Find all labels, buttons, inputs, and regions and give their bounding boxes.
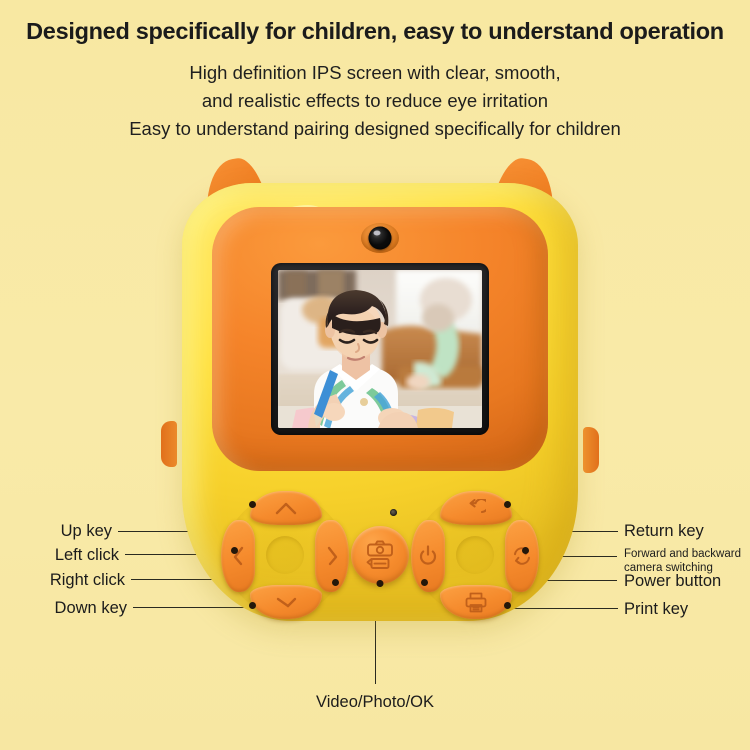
label-right-click: Right click <box>0 571 125 590</box>
indicator-dot-icon <box>390 509 397 516</box>
down-key-button[interactable] <box>250 585 322 619</box>
return-key-button[interactable] <box>440 491 512 525</box>
camera-device <box>168 155 592 625</box>
leader-dot-power <box>421 579 428 586</box>
up-key-button[interactable] <box>250 491 322 525</box>
dpad-right <box>415 495 535 615</box>
product-infographic: Designed specifically for children, easy… <box>0 0 750 750</box>
lens-housing <box>361 223 399 253</box>
leader-dot-left <box>231 547 238 554</box>
label-return-key: Return key <box>624 522 704 541</box>
camera-lens-icon <box>369 227 392 250</box>
print-icon <box>464 592 488 613</box>
subtitle-line-2: and realistic effects to reduce eye irri… <box>0 90 750 112</box>
leader-dot-up <box>249 501 256 508</box>
left-click-button[interactable] <box>221 520 255 592</box>
screen-photo <box>278 270 482 428</box>
leader-dot-ok <box>377 580 384 587</box>
label-video-photo-ok: Video/Photo/OK <box>0 693 750 712</box>
power-icon <box>419 545 437 567</box>
dpad-left <box>225 495 345 615</box>
side-button-right[interactable] <box>583 427 599 473</box>
leader-dot-down <box>249 602 256 609</box>
camera-faceplate <box>212 207 548 471</box>
return-icon <box>466 499 486 517</box>
leader-dot-right <box>332 579 339 586</box>
leader-dot-return <box>504 501 511 508</box>
subtitle-line-3: Easy to understand pairing designed spec… <box>0 118 750 140</box>
video-photo-ok-button[interactable] <box>344 519 416 591</box>
lens-glint <box>374 231 381 236</box>
label-left-click: Left click <box>0 546 119 565</box>
arrow-up-icon <box>275 502 297 515</box>
print-key-button[interactable] <box>440 585 512 619</box>
label-down-key: Down key <box>0 599 127 618</box>
subtitle-line-1: High definition IPS screen with clear, s… <box>0 62 750 84</box>
label-up-key: Up key <box>0 522 112 541</box>
arrow-down-icon <box>275 596 297 609</box>
display-screen[interactable] <box>278 270 482 428</box>
arrow-right-icon <box>326 545 339 567</box>
side-button-left[interactable] <box>161 421 177 467</box>
video-photo-ok-icon <box>363 538 397 572</box>
screen-bezel <box>271 263 489 435</box>
camera-switch-button[interactable] <box>505 520 539 592</box>
label-power-button: Power button <box>624 572 721 591</box>
page-title: Designed specifically for children, easy… <box>0 18 750 45</box>
label-camera-switching-line1: Forward and backward <box>624 548 741 562</box>
leader-dot-switch <box>522 547 529 554</box>
leader-dot-print <box>504 602 511 609</box>
power-button[interactable] <box>411 520 445 592</box>
label-print-key: Print key <box>624 600 688 619</box>
control-panel <box>168 485 592 625</box>
